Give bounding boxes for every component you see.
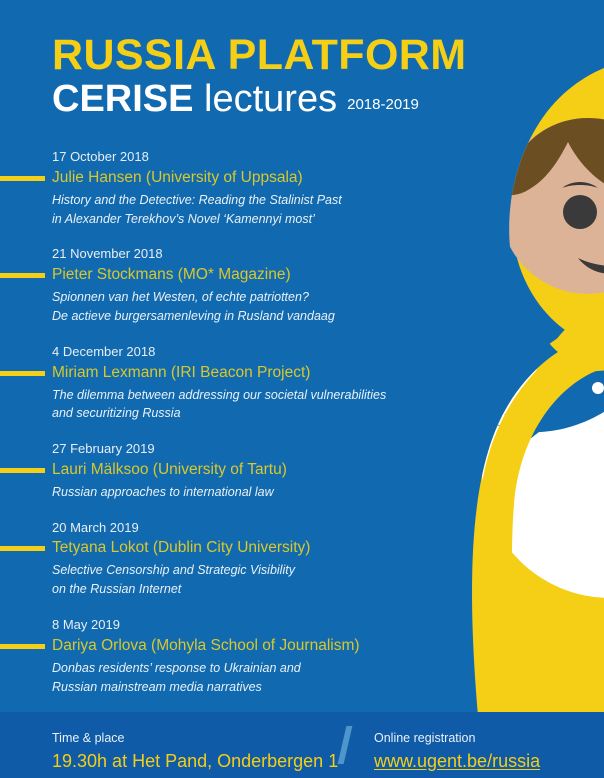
- lecture-description: Spionnen van het Westen, of echte patrio…: [52, 288, 420, 326]
- scarf-hem-line: [504, 384, 604, 458]
- lecture-list: 17 October 2018 Julie Hansen (University…: [0, 148, 420, 713]
- lecture-description-line: and securitizing Russia: [52, 404, 420, 423]
- slash-divider-icon: [338, 726, 353, 764]
- lecture-description-line: Russian approaches to international law: [52, 483, 420, 502]
- lecture-description-line: Donbas residents’ response to Ukrainian …: [52, 659, 420, 678]
- headscarf-shape: [456, 0, 604, 716]
- footer: Time & place 19.30h at Het Pand, Onderbe…: [0, 712, 604, 778]
- lecture-description-line: on the Russian Internet: [52, 580, 420, 599]
- poster: RUSSIA PLATFORM CERISE lectures 2018-201…: [0, 0, 604, 778]
- smile-shape: [578, 258, 604, 274]
- header: RUSSIA PLATFORM CERISE lectures 2018-201…: [52, 34, 472, 120]
- subtitle-row: CERISE lectures 2018-2019: [52, 80, 472, 120]
- subtitle-bold: CERISE: [52, 78, 193, 120]
- registration-block: Online registration www.ugent.be/russia: [374, 729, 540, 774]
- lecture-date: 17 October 2018: [52, 148, 420, 167]
- lecture-date: 20 March 2019: [52, 519, 420, 538]
- lecture-name-row: Miriam Lexmann (IRI Beacon Project): [0, 362, 420, 384]
- lecture-description-line: Spionnen van het Westen, of echte patrio…: [52, 288, 420, 307]
- lecture-description-line: Selective Censorship and Strategic Visib…: [52, 561, 420, 580]
- dash-marker-icon: [0, 468, 45, 473]
- lecture-name-row: Dariya Orlova (Mohyla School of Journali…: [0, 635, 420, 657]
- lecture-speaker: Dariya Orlova (Mohyla School of Journali…: [52, 635, 360, 657]
- lecture-name-row: Pieter Stockmans (MO* Magazine): [0, 264, 420, 286]
- petal-dot: [592, 382, 604, 394]
- page-title: RUSSIA PLATFORM: [52, 34, 472, 78]
- eyebrow-shape: [562, 182, 598, 188]
- lecture-name-row: Julie Hansen (University of Uppsala): [0, 167, 420, 189]
- petal-dot: [518, 402, 538, 422]
- lecture-description: Selective Censorship and Strategic Visib…: [52, 561, 420, 599]
- subtitle-rest: lectures: [193, 78, 337, 120]
- dash-marker-icon: [0, 371, 45, 376]
- dash-marker-icon: [0, 273, 45, 278]
- lecture-date: 8 May 2019: [52, 616, 420, 635]
- lecture-item: 21 November 2018 Pieter Stockmans (MO* M…: [0, 245, 420, 325]
- lecture-description: Donbas residents’ response to Ukrainian …: [52, 659, 420, 697]
- lecture-speaker: Pieter Stockmans (MO* Magazine): [52, 264, 291, 286]
- registration-link[interactable]: www.ugent.be/russia: [374, 749, 540, 774]
- apron-border-shape: [477, 330, 604, 716]
- dash-marker-icon: [0, 176, 45, 181]
- lecture-date: 27 February 2019: [52, 440, 420, 459]
- page-subtitle: CERISE lectures: [52, 80, 337, 120]
- dash-marker-icon: [0, 546, 45, 551]
- lecture-item: 4 December 2018 Miriam Lexmann (IRI Beac…: [0, 343, 420, 423]
- lecture-item: 20 March 2019 Tetyana Lokot (Dublin City…: [0, 519, 420, 599]
- season-years: 2018-2019: [347, 96, 419, 120]
- lecture-item: 17 October 2018 Julie Hansen (University…: [0, 148, 420, 228]
- lecture-speaker: Tetyana Lokot (Dublin City University): [52, 537, 310, 559]
- lecture-name-row: Tetyana Lokot (Dublin City University): [0, 537, 420, 559]
- scarf-drape-shape: [504, 296, 604, 452]
- lecture-description-line: De actieve burgersamenleving in Rusland …: [52, 307, 420, 326]
- lecture-date: 4 December 2018: [52, 343, 420, 362]
- lecture-speaker: Miriam Lexmann (IRI Beacon Project): [52, 362, 310, 384]
- lecture-description-line: History and the Detective: Reading the S…: [52, 191, 420, 210]
- lecture-speaker: Julie Hansen (University of Uppsala): [52, 167, 303, 189]
- lecture-date: 21 November 2018: [52, 245, 420, 264]
- time-place-block: Time & place 19.30h at Het Pand, Onderbe…: [52, 729, 338, 774]
- neck-shadow-shape: [564, 300, 604, 384]
- lecture-item: 27 February 2019 Lauri Mälksoo (Universi…: [0, 440, 420, 502]
- lecture-item: 8 May 2019 Dariya Orlova (Mohyla School …: [0, 616, 420, 696]
- lecture-description: Russian approaches to international law: [52, 483, 420, 502]
- lecture-name-row: Lauri Mälksoo (University of Tartu): [0, 459, 420, 481]
- apron-shape: [482, 342, 604, 598]
- time-place-label: Time & place: [52, 729, 338, 748]
- lecture-speaker: Lauri Mälksoo (University of Tartu): [52, 459, 287, 481]
- lecture-description-line: The dilemma between addressing our socie…: [52, 386, 420, 405]
- petal-decoration-shape: [496, 370, 604, 432]
- registration-label: Online registration: [374, 729, 540, 748]
- hair-shape: [504, 118, 604, 200]
- lecture-description: The dilemma between addressing our socie…: [52, 386, 420, 424]
- lecture-description-line: Russian mainstream media narratives: [52, 678, 420, 697]
- eye-shape: [563, 195, 597, 229]
- petal-dot: [496, 414, 508, 426]
- face-shape: [500, 118, 604, 294]
- dash-marker-icon: [0, 644, 45, 649]
- time-place-value: 19.30h at Het Pand, Onderbergen 1: [52, 749, 338, 774]
- lecture-description: History and the Detective: Reading the S…: [52, 191, 420, 229]
- lecture-description-line: in Alexander Terekhov’s Novel ‘Kamennyi …: [52, 210, 420, 229]
